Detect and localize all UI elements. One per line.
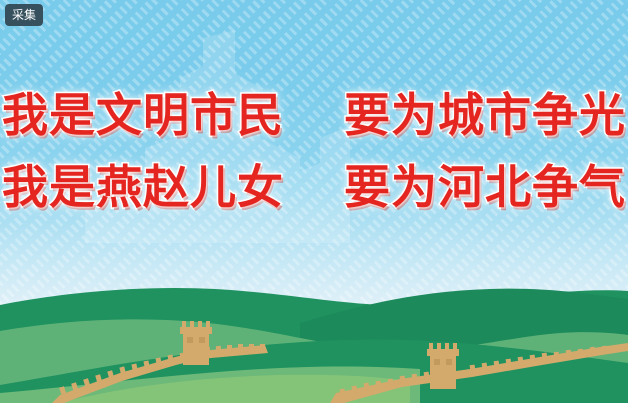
capture-button[interactable]: 采集	[5, 4, 43, 26]
banner-screenshot: 我是文明市民 要为城市争光 我是燕赵儿女 要为河北争气 采集	[0, 0, 628, 403]
watchtower-right	[430, 353, 456, 389]
watchtower-left	[183, 331, 209, 365]
great-wall-watermark-icon	[85, 18, 385, 248]
landscape-hills	[0, 275, 628, 403]
